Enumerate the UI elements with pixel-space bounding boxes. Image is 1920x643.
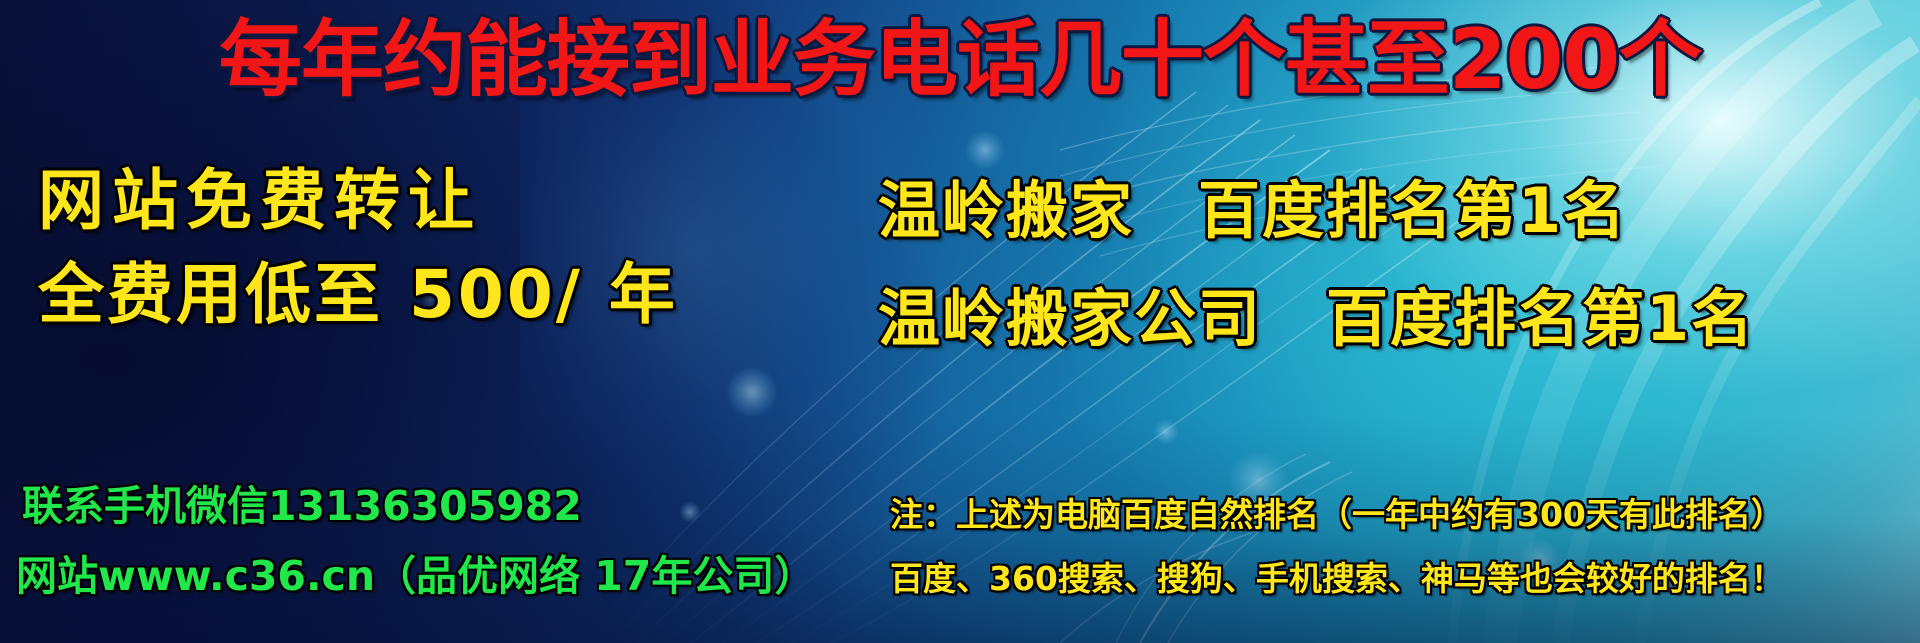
promo-banner: 每年约能接到业务电话几十个甚至200个 网站免费转让 全费用低至 500/ 年 … [0, 0, 1920, 643]
banner-content: 每年约能接到业务电话几十个甚至200个 网站免费转让 全费用低至 500/ 年 … [0, 0, 1920, 643]
contact-website: 网站www.c36.cn（品优网络 17年公司） [16, 556, 815, 597]
banner-headline: 每年约能接到业务电话几十个甚至200个 [219, 18, 1701, 101]
contact-phone-wechat: 联系手机微信13136305982 [22, 486, 582, 527]
offer-line-transfer: 网站免费转让 [38, 168, 482, 234]
ranking-line-moving-company: 温岭搬家公司 百度排名第1名 [878, 288, 1755, 350]
offer-line-price: 全费用低至 500/ 年 [38, 262, 678, 328]
note-line-other-engines: 百度、360搜索、搜狗、手机搜索、神马等也会较好的排名！ [890, 562, 1784, 595]
ranking-line-moving: 温岭搬家 百度排名第1名 [878, 180, 1627, 242]
note-line-natural-ranking: 注：上述为电脑百度自然排名（一年中约有300天有此排名） [890, 498, 1784, 531]
